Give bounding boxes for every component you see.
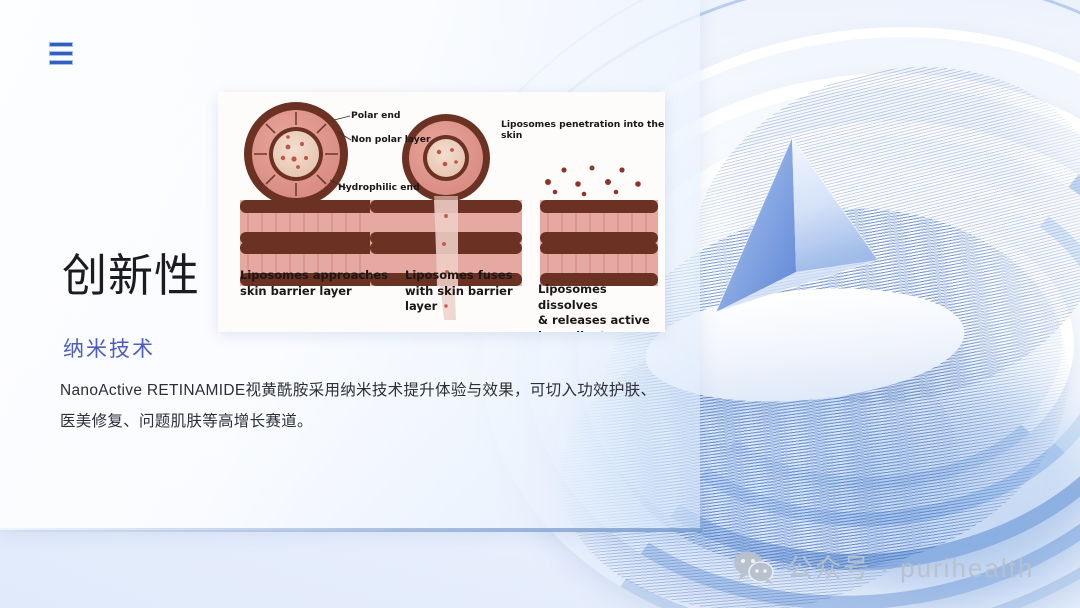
content-panel-edge: [0, 528, 702, 532]
figure-label-penetration: Liposomes penetration into the skin: [501, 119, 665, 141]
hamburger-menu-icon[interactable]: [49, 42, 73, 65]
page-title: 创新性: [62, 252, 200, 299]
bilayer-stack-right: [540, 200, 658, 286]
figure-label-hydrophilic-end: Hydrophilic end: [338, 182, 420, 193]
hamburger-bar-1: [49, 42, 73, 47]
hamburger-bar-3: [49, 60, 73, 65]
wechat-icon: [733, 550, 775, 584]
liposome-diagram-image: Polar end Non polar layer Hydrophilic en…: [218, 92, 665, 332]
figure-caption-3-line-3: ingredients: [538, 329, 665, 332]
figure-caption-2-line-2: with skin barrier: [405, 284, 525, 300]
figure-caption-2: Liposomes fuses with skin barrier layer: [405, 268, 525, 315]
body-paragraph: NanoActive RETINAMIDE视黄酰胺采用纳米技术提升体验与效果，可…: [60, 375, 660, 437]
figure-caption-3-line-2: & releases active: [538, 313, 665, 329]
figure-caption-1-line-1: Liposomes approaches: [240, 268, 392, 284]
wechat-watermark: 公众号 · purihealth: [733, 548, 1034, 585]
figure-caption-1-line-2: skin barrier layer: [240, 284, 392, 300]
slide-root: 创新性 纳米技术 NanoActive RETINAMIDE视黄酰胺采用纳米技术…: [0, 0, 1080, 608]
figure-caption-3: Liposomes dissolves & releases active in…: [538, 282, 665, 332]
figure-caption-2-line-1: Liposomes fuses: [405, 268, 525, 284]
hamburger-bar-2: [49, 51, 73, 56]
figure-caption-2-line-3: layer: [405, 299, 525, 315]
liposome-vesicle-left: [244, 102, 348, 206]
figure-caption-1: Liposomes approaches skin barrier layer: [240, 268, 392, 299]
watermark-text: 公众号 · purihealth: [787, 548, 1034, 585]
figure-label-non-polar-layer: Non polar layer: [351, 134, 431, 145]
pyramid-3d-icon: [700, 132, 890, 332]
section-subtitle: 纳米技术: [63, 333, 155, 363]
figure-caption-3-line-1: Liposomes dissolves: [538, 282, 665, 313]
figure-label-polar-end: Polar end: [351, 110, 400, 121]
